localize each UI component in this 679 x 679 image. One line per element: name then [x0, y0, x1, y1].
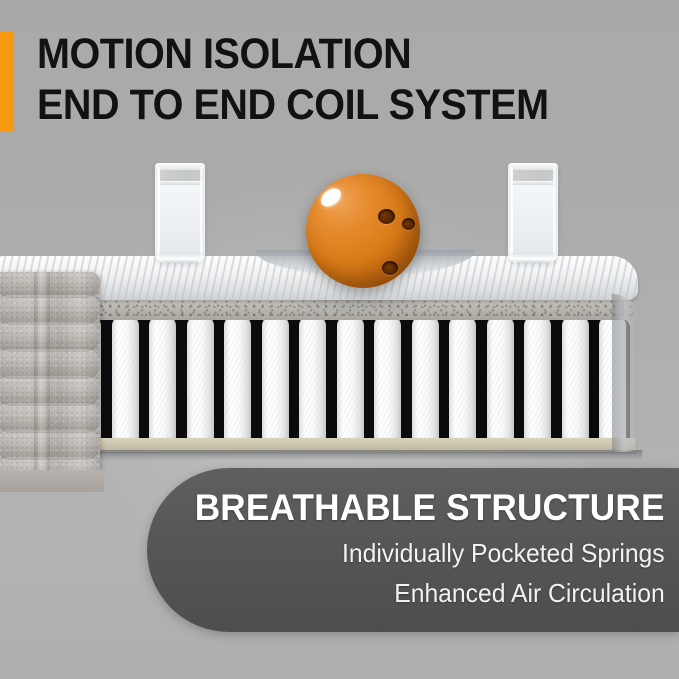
pocketed-coil: [487, 318, 514, 440]
glass-water: [511, 183, 555, 260]
orange-accent-bar: [0, 31, 14, 131]
pocketed-coil: [449, 318, 476, 440]
pocketed-coil: [299, 318, 326, 440]
pocketed-coil: [412, 318, 439, 440]
orange-bowling-ball: [306, 174, 420, 288]
ball-finger-hole-2: [402, 218, 415, 230]
pocketed-coil: [112, 318, 139, 440]
side-panel-rib: [0, 403, 100, 433]
pocketed-coil: [374, 318, 401, 440]
mattress-right-end: [612, 294, 638, 452]
pocketed-coil: [224, 318, 251, 440]
headline-line-1: MOTION ISOLATION: [37, 29, 607, 80]
glass-rim: [155, 163, 205, 170]
pocketed-coil: [149, 318, 176, 440]
ball-thumb-hole: [382, 261, 398, 275]
headline-line-2: END TO END COIL SYSTEM: [37, 80, 607, 131]
banner-title: BREATHABLE STRUCTURE: [195, 486, 665, 530]
glass-rim: [508, 163, 558, 170]
pocketed-coil: [187, 318, 214, 440]
side-panel-rib: [0, 376, 100, 406]
glass-left-edge: [157, 167, 160, 260]
ball-finger-hole-1: [378, 209, 395, 224]
side-panel-bottom-edge: [0, 470, 104, 492]
glass-left-edge: [510, 167, 513, 260]
breathable-structure-banner: BREATHABLE STRUCTURE Individually Pocket…: [147, 468, 679, 632]
mattress-side-panel: [0, 272, 100, 482]
banner-subtitle-1: Individually Pocketed Springs: [342, 538, 665, 568]
glass-waterline: [510, 181, 556, 185]
side-panel-rib: [0, 349, 100, 379]
water-glass-right: [508, 163, 558, 263]
side-panel-rib: [0, 295, 100, 325]
glass-base: [511, 253, 555, 263]
pocketed-coil: [337, 318, 364, 440]
pocketed-coil: [524, 318, 551, 440]
headline: MOTION ISOLATION END TO END COIL SYSTEM: [37, 29, 607, 131]
product-feature-poster: MOTION ISOLATION END TO END COIL SYSTEM: [0, 0, 679, 679]
glass-right-edge: [553, 167, 556, 260]
side-panel-rib: [0, 322, 100, 352]
glass-waterline: [157, 181, 203, 185]
glass-right-edge: [200, 167, 203, 260]
side-panel-rib: [0, 430, 100, 460]
pocketed-coil: [262, 318, 289, 440]
glass-base: [158, 253, 202, 263]
banner-subtitle-2: Enhanced Air Circulation: [395, 578, 665, 608]
ball-highlight: [318, 185, 345, 210]
pocketed-coil: [562, 318, 589, 440]
water-glass-left: [155, 163, 205, 263]
glass-water: [158, 183, 202, 260]
